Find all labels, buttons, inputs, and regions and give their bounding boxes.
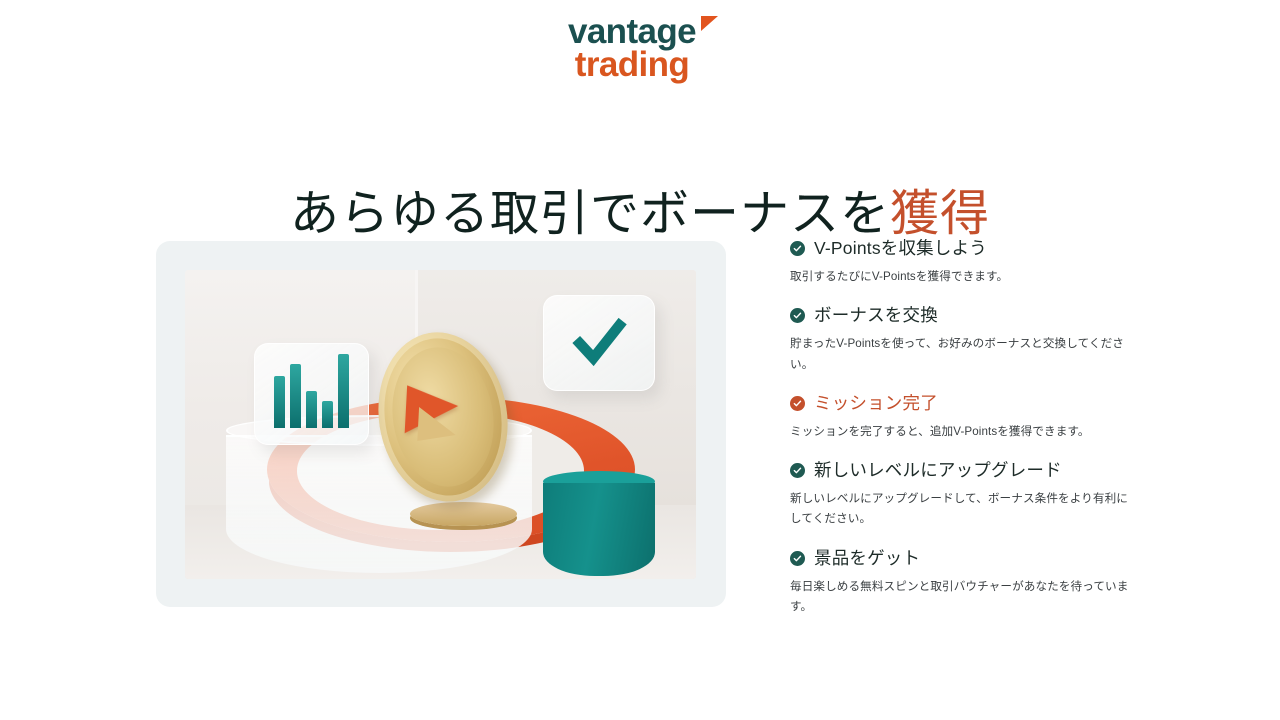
feature-header: 新しいレベルにアップグレード <box>790 460 1140 481</box>
feature-item[interactable]: V-Pointsを収集しよう取引するたびにV-Pointsを獲得できます。 <box>790 238 1140 287</box>
logo-word-trading: trading <box>568 47 712 83</box>
brand-logo[interactable]: vantage trading <box>0 14 1280 82</box>
feature-title: 景品をゲット <box>814 548 920 569</box>
teal-cylinder <box>543 483 655 576</box>
checkmark-card <box>543 295 655 391</box>
logo-lockup: vantage trading <box>568 14 712 82</box>
feature-header: V-Pointsを収集しよう <box>790 238 1140 259</box>
feature-description: 取引するたびにV-Pointsを獲得できます。 <box>790 267 1130 287</box>
chart-bar <box>290 364 301 428</box>
chart-bar <box>274 376 285 428</box>
check-circle-icon <box>790 308 805 323</box>
logo-word-vantage: vantage <box>568 14 712 50</box>
page-title: あらゆる取引でボーナスを獲得 <box>0 174 1280 245</box>
feature-header: ボーナスを交換 <box>790 305 1140 326</box>
feature-item[interactable]: 景品をゲット毎日楽しめる無料スピンと取引バウチャーがあなたを待っています。 <box>790 548 1140 618</box>
feature-header: ミッション完了 <box>790 393 1140 414</box>
feature-title: V-Pointsを収集しよう <box>814 238 987 259</box>
feature-title: ミッション完了 <box>814 393 938 414</box>
page-title-accent: 獲得 <box>890 187 990 241</box>
bar-chart-card <box>254 343 369 445</box>
chart-bar <box>322 401 333 428</box>
triangle-icon <box>701 16 718 31</box>
page-title-main: あらゆる取引でボーナスを <box>290 187 890 241</box>
feature-item[interactable]: ボーナスを交換貯まったV-Pointsを使って、お好みのボーナスと交換してくださ… <box>790 305 1140 375</box>
feature-item[interactable]: ミッション完了ミッションを完了すると、追加V-Pointsを獲得できます。 <box>790 393 1140 442</box>
check-circle-icon <box>790 463 805 478</box>
chart-bar <box>306 391 317 428</box>
feature-title: ボーナスを交換 <box>814 305 938 326</box>
promo-illustration <box>185 270 696 579</box>
check-circle-icon <box>790 241 805 256</box>
check-circle-icon <box>790 396 805 411</box>
promo-illustration-card <box>156 241 726 607</box>
teal-check-icon <box>567 315 631 369</box>
feature-header: 景品をゲット <box>790 548 1140 569</box>
coin-arrow-shadow-icon <box>418 407 458 443</box>
feature-title: 新しいレベルにアップグレード <box>814 460 1062 481</box>
feature-description: 貯まったV-Pointsを使って、お好みのボーナスと交換してください。 <box>790 334 1130 375</box>
feature-description: ミッションを完了すると、追加V-Pointsを獲得できます。 <box>790 422 1130 442</box>
feature-list: V-Pointsを収集しよう取引するたびにV-Pointsを獲得できます。ボーナ… <box>790 238 1140 617</box>
chart-bar <box>338 354 349 428</box>
check-circle-icon <box>790 551 805 566</box>
feature-description: 新しいレベルにアップグレードして、ボーナス条件をより有利にしてください。 <box>790 489 1130 530</box>
feature-description: 毎日楽しめる無料スピンと取引バウチャーがあなたを待っています。 <box>790 577 1130 618</box>
feature-item[interactable]: 新しいレベルにアップグレード新しいレベルにアップグレードして、ボーナス条件をより… <box>790 460 1140 530</box>
